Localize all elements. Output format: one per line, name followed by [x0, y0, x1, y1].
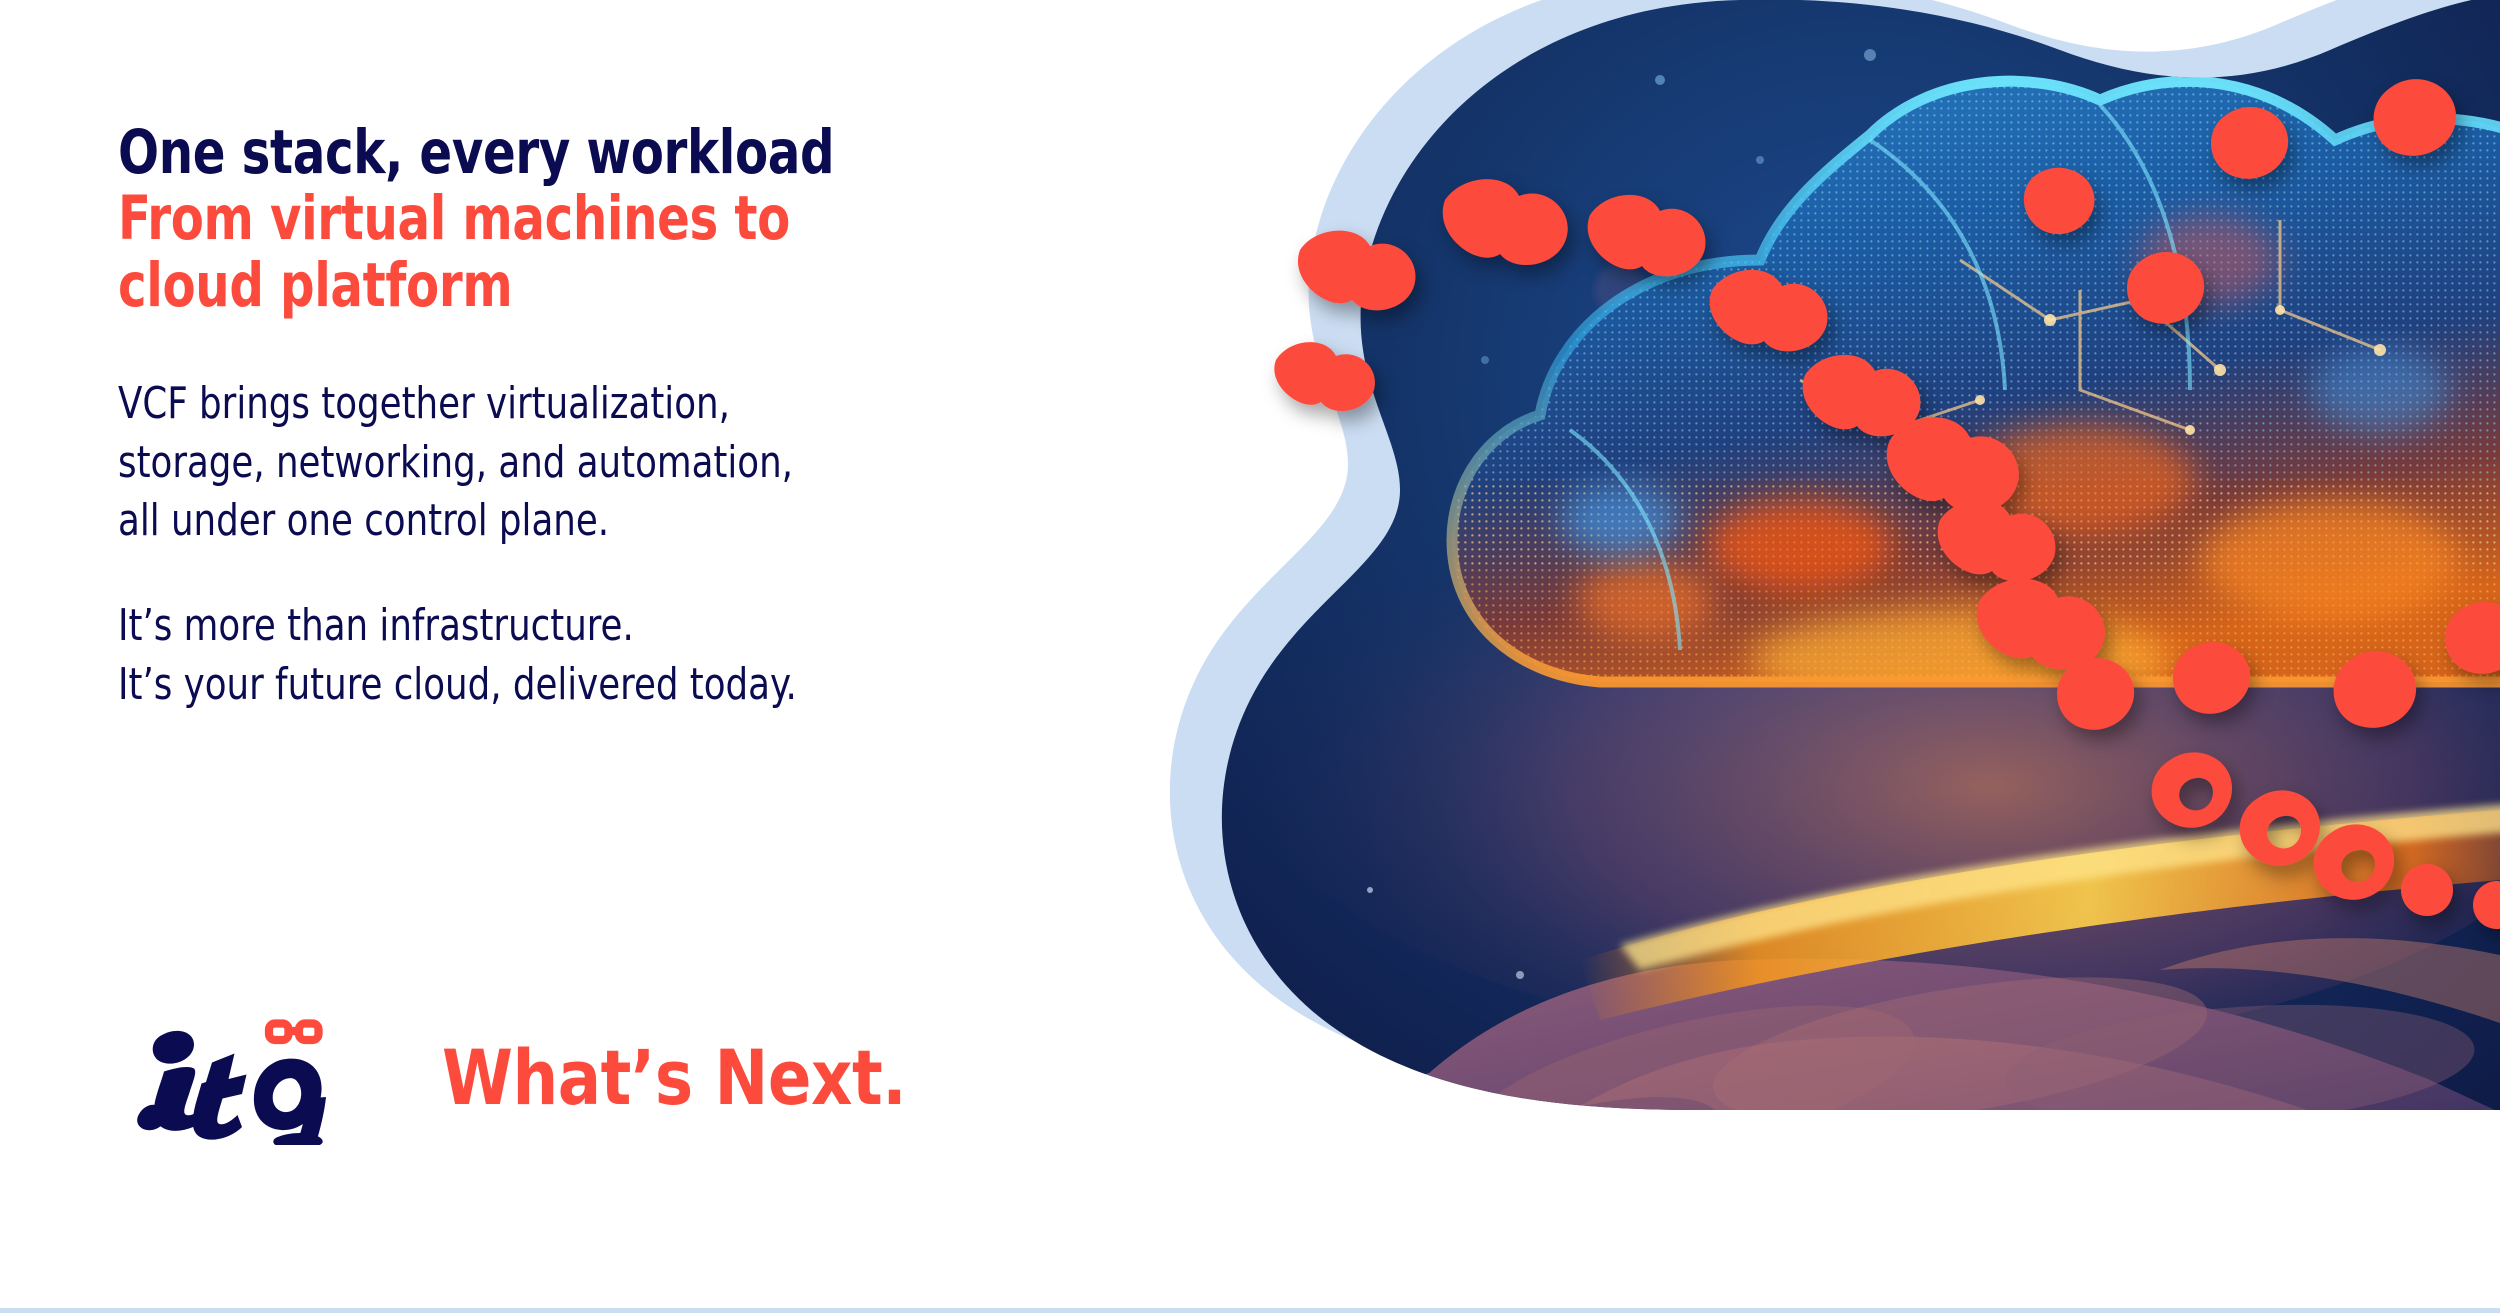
logo-lockup: What’s Next.	[122, 1010, 936, 1145]
body-p1-line-3: all under one control plane.	[118, 492, 1090, 551]
slide-canvas: One stack, every workload From virtual m…	[0, 0, 2500, 1313]
tagline: What’s Next.	[442, 1040, 906, 1116]
headline-line-3: cloud platform	[118, 253, 1068, 319]
text-column: One stack, every workload From virtual m…	[118, 120, 1198, 714]
body-p2-line-1: It’s more than infrastructure.	[118, 597, 1090, 656]
headline: One stack, every workload From virtual m…	[118, 120, 1068, 319]
body-p1-line-1: VCF brings together virtualization,	[118, 375, 1090, 434]
cloud-artwork	[1100, 0, 2500, 1313]
artwork-svg	[1100, 0, 2500, 1313]
glasses-icon	[269, 1024, 319, 1041]
headline-line-1: One stack, every workload	[118, 120, 1068, 186]
body-p2-line-2: It’s your future cloud, delivered today.	[118, 656, 1090, 715]
body-p1-line-2: storage, networking, and automation,	[118, 434, 1090, 493]
body-paragraph-2: It’s more than infrastructure. It’s your…	[118, 597, 1090, 714]
headline-line-2: From virtual machines to	[118, 186, 1068, 252]
itq-logo	[122, 1010, 347, 1145]
artwork-image	[1100, 0, 2500, 1313]
bottom-divider	[0, 1308, 2500, 1313]
itq-wordmark	[137, 1031, 326, 1145]
body-paragraph-1: VCF brings together virtualization, stor…	[118, 375, 1090, 551]
